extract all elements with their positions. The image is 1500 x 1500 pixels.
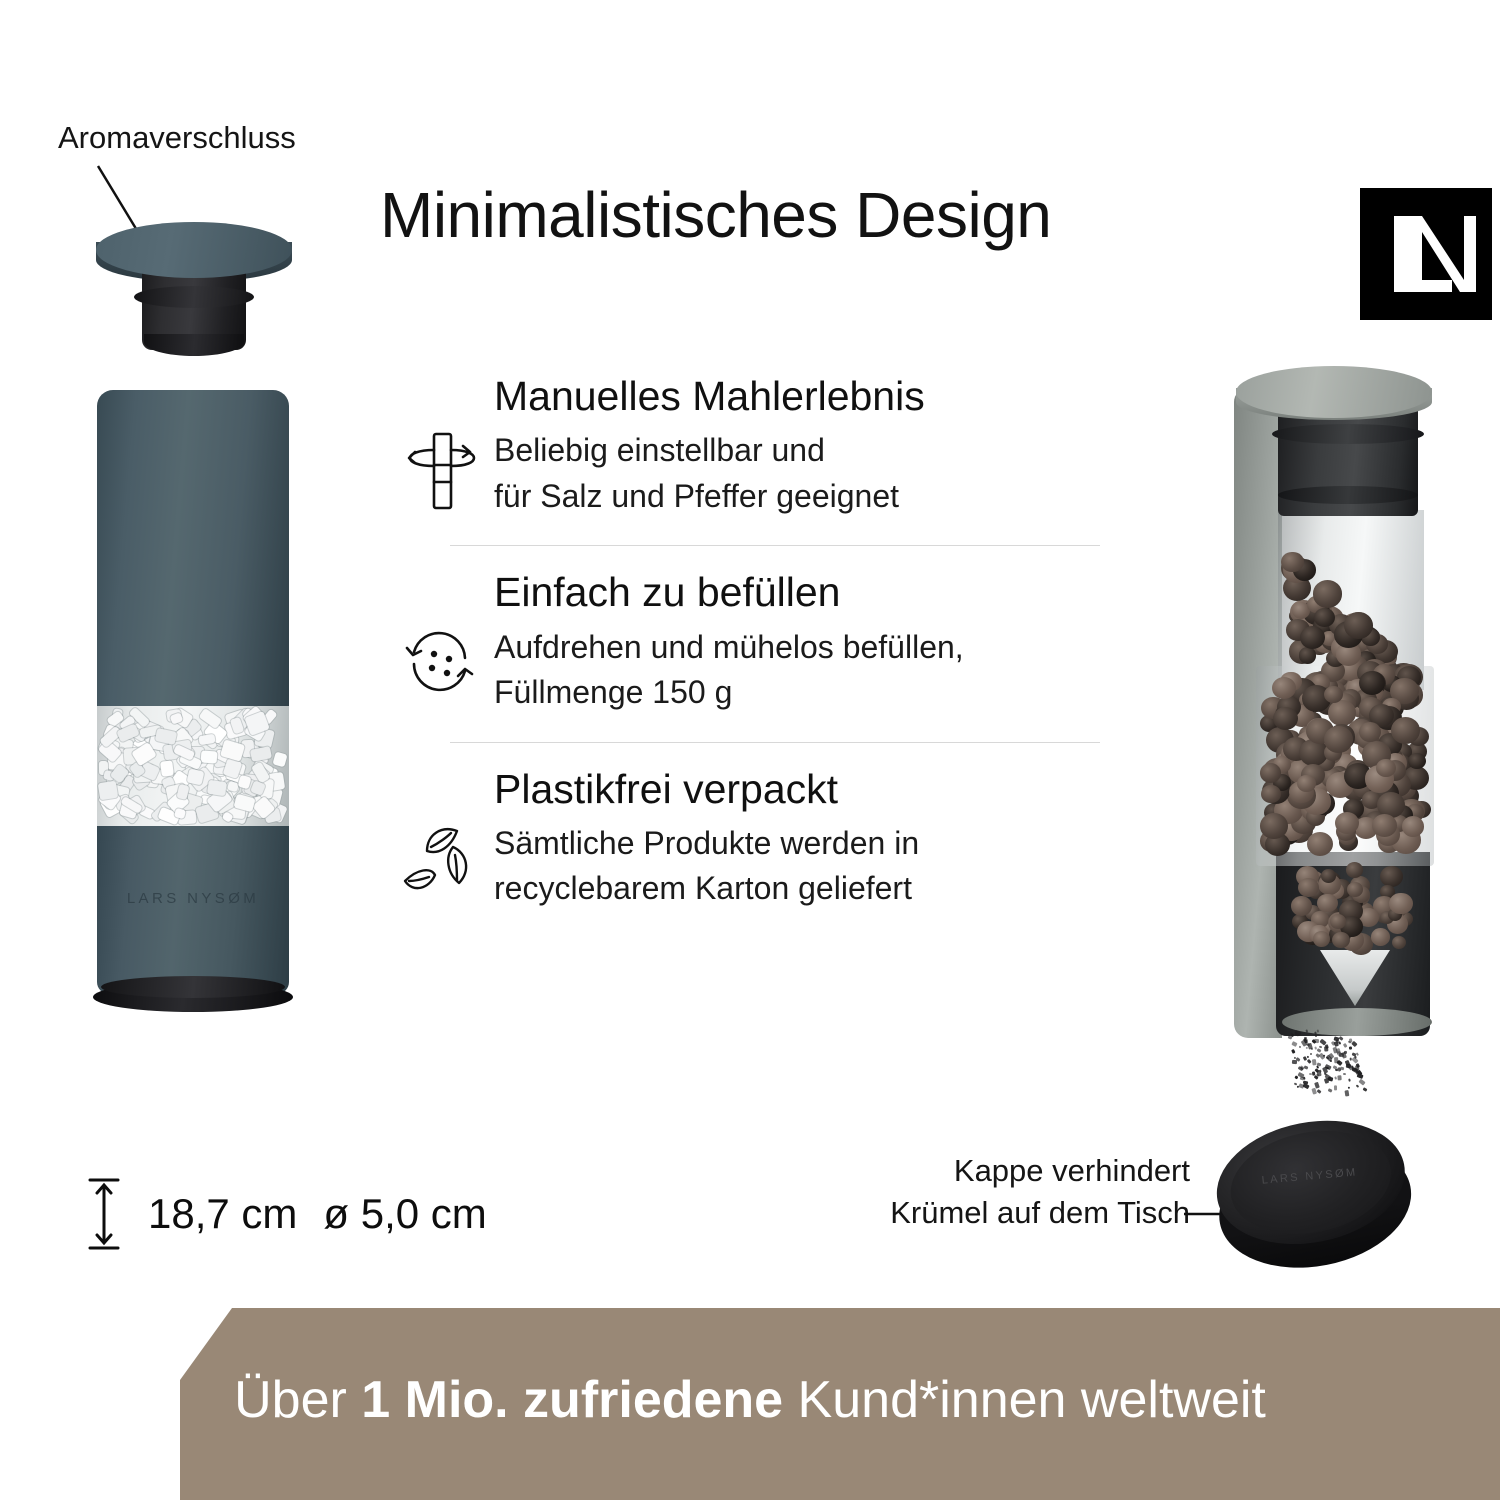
feature-desc-line-1: Sämtliche Produkte werden in xyxy=(494,821,1130,866)
salt-crystals xyxy=(99,709,287,826)
height-measure-icon xyxy=(82,1176,126,1252)
feature-item-plastikfrei-verpackt: Plastikfrei verpackt Sämtliche Produkte … xyxy=(390,765,1130,912)
feature-desc-line-1: Aufdrehen und mühelos befüllen, xyxy=(494,625,1130,670)
salt-mill-upper-shell xyxy=(97,390,289,708)
feature-desc-line-2: recyclebarem Karton geliefert xyxy=(494,866,1130,911)
dimension-height: 18,7 cm xyxy=(148,1190,297,1237)
dimension-diameter: ø 5,0 cm xyxy=(323,1190,486,1237)
page-title: Minimalistisches Design xyxy=(380,182,1320,249)
ground-pepper-dust xyxy=(1216,366,1460,1066)
feature-list: Manuelles Mahlerlebnis Beliebig einstell… xyxy=(390,372,1130,912)
cap-plug-bottom xyxy=(144,334,244,356)
rubber-cap-product: LARS NYSØM xyxy=(1203,1101,1426,1307)
feature-desc-line-1: Beliebig einstellbar und xyxy=(494,428,1130,473)
callout-aromaverschluss: Aromaverschluss xyxy=(58,120,296,156)
bottom-banner-text: Über 1 Mio. zufriedene Kund*innen weltwe… xyxy=(0,1370,1500,1430)
feature-item-manuelles-mahlerlebnis: Manuelles Mahlerlebnis Beliebig einstell… xyxy=(390,372,1130,519)
dimensions-text: 18,7 cmø 5,0 cm xyxy=(148,1190,487,1238)
feature-title: Plastikfrei verpackt xyxy=(494,765,1130,813)
feature-description: Sämtliche Produkte werden in recyclebare… xyxy=(494,821,1130,912)
feature-text-block: Manuelles Mahlerlebnis Beliebig einstell… xyxy=(494,372,1130,519)
feature-description: Beliebig einstellbar und für Salz und Pf… xyxy=(494,428,1130,519)
feature-desc-line-2: für Salz und Pfeffer geeignet xyxy=(494,474,1130,519)
recycle-leaves-icon xyxy=(390,765,494,905)
feature-divider-1 xyxy=(450,545,1100,546)
pepper-mill-cutaway xyxy=(1216,366,1460,1066)
feature-divider-2 xyxy=(450,742,1100,743)
salt-mill-brand-text: LARS NYSØM xyxy=(97,890,289,907)
salt-mill-window xyxy=(97,706,289,828)
salt-mill-cap xyxy=(96,222,292,357)
salt-mill-body: LARS NYSØM xyxy=(97,390,289,1010)
feature-title: Manuelles Mahlerlebnis xyxy=(494,372,1130,420)
dimensions-row: 18,7 cmø 5,0 cm xyxy=(82,1176,487,1252)
salt-mill-lower-shell xyxy=(97,826,289,994)
callout-kappe-line-1: Kappe verhindert xyxy=(860,1150,1190,1192)
banner-suffix: Kund*innen weltweit xyxy=(783,1371,1266,1429)
infographic-page: Minimalistisches Design Aromaverschluss … xyxy=(0,0,1500,1500)
grinder-rotate-icon xyxy=(390,372,494,514)
cap-disc xyxy=(96,222,292,278)
cap-ring xyxy=(134,286,254,308)
feature-title: Einfach zu befüllen xyxy=(494,568,1130,616)
feature-text-block: Plastikfrei verpackt Sämtliche Produkte … xyxy=(494,765,1130,912)
callout-kappe: Kappe verhindert Krümel auf dem Tisch xyxy=(860,1150,1190,1234)
refill-circle-icon xyxy=(390,568,494,704)
callout-kappe-line-2: Krümel auf dem Tisch xyxy=(860,1192,1190,1234)
feature-item-einfach-zu-befuellen: Einfach zu befüllen Aufdrehen und mühelo… xyxy=(390,568,1130,715)
brand-logo xyxy=(1360,188,1492,320)
banner-prefix: Über xyxy=(234,1371,361,1429)
banner-bold: 1 Mio. zufriedene xyxy=(361,1371,783,1429)
feature-text-block: Einfach zu befüllen Aufdrehen und mühelo… xyxy=(494,568,1130,715)
feature-description: Aufdrehen und mühelos befüllen, Füllmeng… xyxy=(494,625,1130,716)
salt-mill-base-inner xyxy=(101,976,285,998)
feature-desc-line-2: Füllmenge 150 g xyxy=(494,670,1130,715)
